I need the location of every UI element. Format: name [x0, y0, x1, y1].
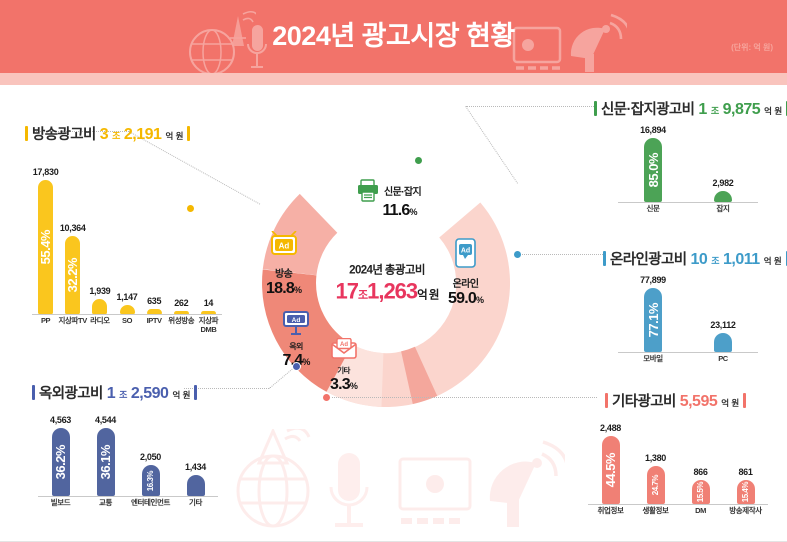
bar-category-label: 신문 — [614, 205, 692, 214]
accent-bar-outdoor-end — [194, 385, 197, 400]
slice-label-etc-pct: 3.3% — [330, 376, 357, 394]
total-uk-unit: 억 원 — [417, 290, 438, 302]
bar-value: 2,488 — [576, 423, 646, 433]
section-title-online: 온라인광고비 10조 1,011억 원 — [603, 248, 787, 269]
bar[interactable]: 44.5% — [602, 436, 620, 504]
svg-text:Ad: Ad — [461, 248, 470, 255]
leader-press-h — [466, 106, 594, 107]
bar-value: 77,899 — [618, 275, 688, 285]
section-amount-press-jo: 1 — [698, 101, 706, 119]
bar[interactable] — [147, 309, 162, 314]
bar[interactable] — [714, 191, 732, 202]
chart-online: 77.1%77,899모바일23,112PC — [618, 276, 758, 366]
bar[interactable] — [201, 311, 216, 314]
bar[interactable]: 85.0% — [644, 138, 662, 202]
chart-broadcast: 55.4%17,830PP32.2%10,364지상파TV1,939라디오1,1… — [32, 160, 222, 328]
bar[interactable]: 15.5% — [692, 480, 710, 504]
section-amount-online-uk: 1,011 — [723, 251, 760, 269]
bar[interactable]: 16.3% — [142, 465, 160, 496]
chart-etc: 44.5%2,488취업정보24.7%1,380생활정보15.5%866DM15… — [588, 418, 768, 518]
bar[interactable] — [187, 475, 205, 496]
accent-bar-etc — [605, 393, 608, 408]
slice-label-press-name: 신문·잡지 — [384, 183, 421, 198]
section-amount-online-jo: 10 — [690, 251, 707, 269]
bar-percent: 77.1% — [646, 303, 661, 337]
bar-value: 4,544 — [71, 415, 141, 425]
section-amount-press-uk: 9,875 — [723, 101, 761, 119]
slice-label-online-name: 온라인 — [448, 275, 483, 290]
donut-center-amount: 17조1,263억 원 — [307, 279, 467, 305]
bar-percent: 16.3% — [146, 471, 155, 491]
chart-axis — [618, 202, 758, 203]
accent-bar-broadcast-end — [187, 126, 190, 141]
bar[interactable]: 55.4% — [38, 180, 53, 314]
mobile-ad-icon: Ad — [454, 238, 477, 268]
dot-online — [513, 250, 522, 259]
section-amount-outdoor-unit: 억 원 — [172, 389, 190, 401]
accent-bar-broadcast — [25, 126, 28, 141]
slice-label-etc: Ad 기타 3.3% — [330, 338, 357, 394]
slice-label-broadcast: Ad 방송 18.8% — [266, 231, 301, 298]
slice-label-press-pct: 11.6% — [378, 202, 421, 220]
leader-online-h — [519, 254, 605, 255]
accent-bar-press — [594, 101, 597, 116]
section-amount-press-unit: 억 원 — [764, 105, 782, 117]
section-name-etc: 기타광고비 — [612, 390, 676, 411]
chart-outdoor: 36.2%4,563빌보드36.1%4,544교통16.3%2,050엔터테인먼… — [38, 410, 218, 510]
chart-axis — [588, 504, 768, 505]
envelope-ad-icon: Ad — [331, 338, 357, 360]
bar-value: 17,830 — [11, 167, 81, 177]
section-amount-broadcast-jounit: 조 — [112, 129, 120, 142]
section-amount-press-jounit: 조 — [711, 104, 719, 117]
section-name-broadcast: 방송광고비 — [32, 123, 96, 144]
leader-etc-h — [327, 397, 597, 398]
section-amount-broadcast-uk: 2,191 — [124, 126, 162, 144]
bar-percent: 24.7% — [651, 475, 660, 495]
dot-etc — [322, 393, 331, 402]
bar-value: 16,894 — [618, 125, 688, 135]
background-media-icons — [225, 429, 565, 534]
section-amount-online-unit: 억 원 — [764, 255, 782, 267]
bar-category-label: 잡지 — [684, 205, 762, 214]
slice-label-press: 신문·잡지 11.6% — [356, 178, 421, 220]
accent-bar-outdoor — [32, 385, 35, 400]
bar[interactable]: 36.2% — [52, 428, 70, 496]
bar-percent: 15.4% — [741, 482, 750, 502]
section-amount-broadcast-unit: 억 원 — [165, 130, 183, 142]
section-amount-outdoor-jo: 1 — [107, 385, 115, 403]
slice-label-broadcast-name: 방송 — [266, 265, 301, 280]
section-name-online: 온라인광고비 — [610, 248, 686, 269]
bar-percent: 36.1% — [98, 445, 113, 479]
bar[interactable]: 32.2% — [65, 236, 80, 314]
chart-axis — [618, 352, 758, 353]
bar[interactable] — [174, 311, 189, 314]
chart-press: 85.0%16,894신문2,982잡지 — [618, 126, 758, 216]
printer-icon — [356, 178, 380, 202]
infographic-page: 2024년 광고시장 현황 (단위: 억 원) — [0, 0, 787, 542]
tv-ad-icon: Ad — [269, 231, 299, 259]
slice-label-outdoor: Ad 옥외 7.4% — [282, 310, 310, 370]
bar-category-label: 기타 — [157, 499, 235, 508]
slice-label-online-pct: 59.0% — [448, 290, 483, 308]
bar-category-label: 방송제작사 — [707, 507, 785, 516]
page-header: 2024년 광고시장 현황 (단위: 억 원) — [0, 0, 787, 73]
section-amount-outdoor-jounit: 조 — [119, 388, 127, 401]
bar-value: 1,380 — [621, 453, 691, 463]
slice-label-online: Ad 온라인 59.0% — [448, 238, 483, 308]
donut-center-caption: 2024년 총광고비 — [307, 262, 467, 278]
bar-category-label: PC — [684, 355, 762, 364]
svg-text:Ad: Ad — [292, 317, 301, 324]
total-uk-number: 1,263 — [367, 279, 417, 304]
section-title-outdoor: 옥외광고비 1조 2,590억 원 — [32, 382, 197, 403]
bar[interactable] — [120, 305, 135, 314]
slice-label-etc-name: 기타 — [330, 365, 357, 376]
bar-value: 14 — [173, 298, 243, 308]
bar[interactable]: 77.1% — [644, 288, 662, 352]
bar[interactable]: 15.4% — [737, 480, 755, 504]
unit-note: (단위: 억 원) — [731, 42, 773, 53]
bar-value: 861 — [711, 467, 781, 477]
chart-axis — [32, 314, 222, 315]
svg-text:Ad: Ad — [278, 242, 289, 251]
page-title: 2024년 광고시장 현황 — [0, 14, 787, 53]
donut-center-total: 2024년 총광고비 17조1,263억 원 — [307, 262, 467, 305]
svg-text:Ad: Ad — [340, 342, 348, 348]
bar-percent: 55.4% — [38, 230, 53, 264]
bar-percent: 44.5% — [603, 453, 618, 487]
section-amount-online-jounit: 조 — [711, 254, 719, 267]
bar[interactable]: 24.7% — [647, 466, 665, 504]
dot-press — [414, 156, 423, 165]
bar-value: 10,364 — [38, 223, 108, 233]
section-name-outdoor: 옥외광고비 — [39, 382, 103, 403]
section-amount-outdoor-uk: 2,590 — [131, 385, 169, 403]
bar-value: 2,982 — [688, 178, 758, 188]
bar[interactable] — [714, 333, 732, 352]
billboard-ad-icon: Ad — [282, 310, 310, 336]
accent-bar-online — [603, 251, 606, 266]
slice-label-outdoor-name: 옥외 — [282, 341, 310, 352]
section-title-press: 신문·잡지광고비 1조 9,875억 원 — [594, 98, 787, 119]
total-ad-spend-donut: 2024년 총광고비 17조1,263억 원 신문·잡지 11.6% — [252, 158, 522, 408]
section-amount-broadcast-jo: 3 — [100, 126, 108, 144]
section-title-broadcast: 방송광고비 3조 2,191억 원 — [25, 123, 190, 144]
section-title-etc: 기타광고비 5,595억 원 — [605, 390, 746, 411]
bar-percent: 15.5% — [696, 482, 705, 502]
bar-category-label: 모바일 — [614, 355, 692, 364]
accent-bar-etc-end — [743, 393, 746, 408]
bar-percent: 36.2% — [53, 445, 68, 479]
bar[interactable]: 36.1% — [97, 428, 115, 496]
bar-percent: 85.0% — [646, 153, 661, 187]
bar-value: 1,434 — [161, 462, 231, 472]
slice-label-broadcast-pct: 18.8% — [266, 280, 301, 298]
total-jo-number: 17 — [335, 279, 357, 304]
dot-outdoor — [292, 362, 301, 371]
total-jo-unit: 조 — [358, 290, 367, 302]
header-accent-strip — [0, 73, 787, 85]
chart-axis — [38, 496, 218, 497]
section-amount-etc-unit: 억 원 — [721, 397, 739, 409]
bar-category-label: 지상파DMB — [169, 317, 247, 334]
bar-value: 23,112 — [688, 320, 758, 330]
section-amount-etc: 5,595 — [680, 393, 718, 411]
section-name-press: 신문·잡지광고비 — [601, 98, 694, 119]
